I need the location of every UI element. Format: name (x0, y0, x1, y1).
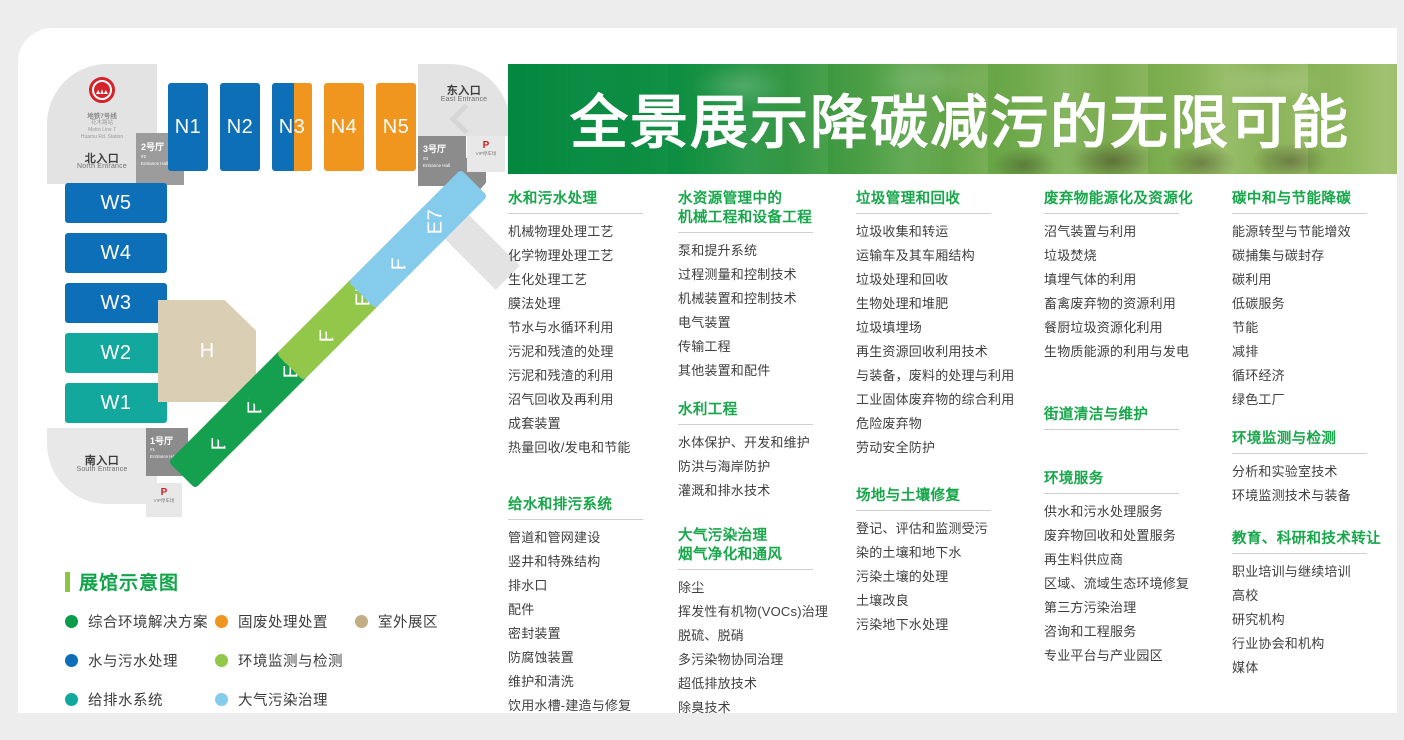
legend-label-4: 环境监测与检测 (238, 650, 343, 671)
category-item: 垃圾填埋场 (856, 316, 1044, 340)
category-item: 土壤改良 (856, 589, 1044, 613)
category-group: 废弃物能源化及资源化沼气装置与利用垃圾焚烧填埋气体的利用畜禽废弃物的资源利用餐厨… (1044, 190, 1232, 364)
hall-n4-label: N4 (331, 116, 358, 139)
category-columns: 水和污水处理机械物理处理工艺化学物理处理工艺生化处理工艺膜法处理节水与水循环利用… (508, 190, 1397, 738)
category-item: 劳动安全防护 (856, 436, 1044, 460)
category-item: 再生资源回收利用技术 (856, 340, 1044, 364)
category-item: 管道和管网建设 (508, 526, 678, 550)
page-root: 地铁7号线 花木路站 Metro Line 7 Huamu Rd. Statio… (0, 0, 1404, 740)
category-item: 节能 (1232, 316, 1397, 340)
entrance-hall-3-en: Entrance Hall (423, 163, 450, 169)
category-item: 高校 (1232, 584, 1397, 608)
category-group-title: 场地与土壤修复 (856, 487, 1044, 510)
legend-title-bar (65, 572, 70, 592)
legend-dot-icon-1 (215, 615, 228, 628)
category-item: 畜禽废弃物的资源利用 (1044, 292, 1232, 316)
category-group: 垃圾管理和回收垃圾收集和转运运输车及其车厢结构垃圾处理和回收生物处理和堆肥垃圾填… (856, 190, 1044, 460)
entrance-hall-3-cn: 3号厅 (423, 142, 446, 155)
category-group: 水资源管理中的机械工程和设备工程泵和提升系统过程测量和控制技术机械装置和控制技术… (678, 190, 856, 383)
metro-logo-icon (89, 77, 115, 103)
legend-label-0: 综合环境解决方案 (88, 611, 208, 632)
banner-title: 全景展示降碳减污的无限可能 (570, 75, 1350, 159)
category-item: 工业固体废弃物的综合利用 (856, 388, 1044, 412)
category-item: 研究机构 (1232, 608, 1397, 632)
legend-item-2: 室外展区 (355, 611, 485, 632)
category-item: 废弃物回收和处置服务 (1044, 524, 1232, 548)
category-group: 水利工程水体保护、开发和维护防洪与海岸防护灌溉和排水技术 (678, 401, 856, 503)
category-item: 媒体 (1232, 656, 1397, 680)
category-item: 传输工程 (678, 335, 856, 359)
category-item: 污泥和残渣的利用 (508, 364, 678, 388)
parking-icon-east: P (467, 140, 505, 151)
category-item: 区域、流域生态环境修复 (1044, 572, 1232, 596)
legend-grid: 综合环境解决方案 固废处理处置 室外展区 水与污水处理 环境监测与检测 (65, 611, 485, 710)
hall-w2[interactable]: W2 (65, 333, 167, 373)
category-group-title: 水和污水处理 (508, 190, 678, 213)
category-item: 挥发性有机物(VOCs)治理 (678, 600, 856, 624)
category-item: 生物处理和堆肥 (856, 292, 1044, 316)
entrance-hall-2-num: #2 (141, 154, 146, 160)
category-item: 维护和清洗 (508, 670, 678, 694)
hall-w3[interactable]: W3 (65, 283, 167, 323)
hall-n5[interactable]: N5 (376, 83, 416, 171)
east-entrance-block: 东入口 East Entrance (418, 64, 510, 136)
category-item: 其他装置和配件 (678, 359, 856, 383)
category-item: 膜法处理 (508, 292, 678, 316)
category-group-divider (1044, 493, 1179, 494)
east-entrance-en: East Entrance (418, 96, 510, 103)
south-entrance-block: 南入口 South Entrance (47, 428, 157, 504)
hero-banner: 全景展示降碳减污的无限可能 (508, 64, 1397, 174)
category-group-divider (1044, 429, 1179, 430)
hall-n1-label: N1 (175, 116, 202, 139)
legend-dot-icon-0 (65, 615, 78, 628)
category-group-divider (678, 232, 813, 233)
hall-w5[interactable]: W5 (65, 183, 167, 223)
category-group-title: 大气污染治理烟气净化和通风 (678, 527, 856, 569)
category-group-title: 水利工程 (678, 401, 856, 424)
legend-dot-icon-5 (65, 693, 78, 706)
category-item: 染的土壤和地下水 (856, 541, 1044, 565)
entrance-hall-2-cn: 2号厅 (141, 140, 164, 153)
category-group: 碳中和与节能降碳能源转型与节能增效碳捕集与碳封存碳利用低碳服务节能减排循环经济绿… (1232, 190, 1397, 412)
category-item: 饮用水槽-建造与修复 (508, 694, 678, 718)
category-item: 能源转型与节能增效 (1232, 220, 1397, 244)
venue-map: 地铁7号线 花木路站 Metro Line 7 Huamu Rd. Statio… (18, 28, 508, 713)
category-item: 循环经济 (1232, 364, 1397, 388)
hall-h-outdoor[interactable]: H (158, 300, 256, 402)
category-item: 减排 (1232, 340, 1397, 364)
hall-w4-label: W4 (101, 242, 132, 265)
category-item: 脱硫、脱硝 (678, 624, 856, 648)
category-item: 专业平台与产业园区 (1044, 644, 1232, 668)
hall-w1[interactable]: W1 (65, 383, 167, 423)
category-item: 防洪与海岸防护 (678, 455, 856, 479)
category-group-title: 教育、科研和技术转让 (1232, 530, 1397, 553)
category-group: 教育、科研和技术转让职业培训与继续培训高校研究机构行业协会和机构媒体 (1232, 530, 1397, 680)
parking-label-south: VIP停车场 (146, 498, 182, 504)
category-item: 生物质能源的利用与发电 (1044, 340, 1232, 364)
category-group-divider (1232, 213, 1367, 214)
category-item: 电气装置 (678, 311, 856, 335)
legend-spacer-2 (355, 689, 485, 710)
hall-n4[interactable]: N4 (324, 83, 364, 171)
category-group-divider (856, 510, 991, 511)
hall-n5-label: N5 (383, 116, 410, 139)
metro-station-cn: 花木路站 (47, 118, 157, 126)
category-item: 化学物理处理工艺 (508, 244, 678, 268)
category-item: 行业协会和机构 (1232, 632, 1397, 656)
hall-w2-label: W2 (101, 342, 132, 365)
category-group: 水和污水处理机械物理处理工艺化学物理处理工艺生化处理工艺膜法处理节水与水循环利用… (508, 190, 678, 460)
hall-w1-label: W1 (101, 392, 132, 415)
category-item: 成套装置 (508, 412, 678, 436)
hall-n1[interactable]: N1 (168, 83, 208, 171)
category-item: 餐厨垃圾资源化利用 (1044, 316, 1232, 340)
category-group-title: 街道清洁与维护 (1044, 406, 1232, 429)
category-column-1: 水资源管理中的机械工程和设备工程泵和提升系统过程测量和控制技术机械装置和控制技术… (678, 190, 856, 738)
legend-item-5: 给排水系统 (65, 689, 215, 710)
east-entrance-arrow-icon (449, 103, 480, 134)
category-group-title: 垃圾管理和回收 (856, 190, 1044, 213)
hall-w4[interactable]: W4 (65, 233, 167, 273)
parking-icon-south: P (146, 487, 182, 498)
category-item: 分析和实验室技术 (1232, 460, 1397, 484)
hall-e7-label: E7 (425, 208, 448, 233)
category-item: 运输车及其车厢结构 (856, 244, 1044, 268)
legend-spacer (355, 650, 485, 671)
legend-label-1: 固废处理处置 (238, 611, 328, 632)
legend-dot-icon-6 (215, 693, 228, 706)
legend-label-6: 大气污染治理 (238, 689, 328, 710)
hall-n2-label: N2 (227, 116, 254, 139)
category-item: 碳捕集与碳封存 (1232, 244, 1397, 268)
category-column-4: 碳中和与节能降碳能源转型与节能增效碳捕集与碳封存碳利用低碳服务节能减排循环经济绿… (1232, 190, 1397, 738)
legend-label-3: 水与污水处理 (88, 650, 178, 671)
category-item: 咨询和工程服务 (1044, 620, 1232, 644)
category-item: 机械物理处理工艺 (508, 220, 678, 244)
hall-w5-label: W5 (101, 192, 132, 215)
category-item: 与装备，废料的处理与利用 (856, 364, 1044, 388)
category-item: 污染土壤的处理 (856, 565, 1044, 589)
hall-n2[interactable]: N2 (220, 83, 260, 171)
entrance-hall-2-en: Entrance Hall (141, 161, 168, 167)
category-item: 密封装置 (508, 622, 678, 646)
category-group-title: 环境服务 (1044, 470, 1232, 493)
category-group-title: 碳中和与节能降碳 (1232, 190, 1397, 213)
category-group-divider (1232, 553, 1367, 554)
category-group-divider (1232, 453, 1367, 454)
category-item: 再生料供应商 (1044, 548, 1232, 572)
category-item: 除尘 (678, 576, 856, 600)
category-item: 灌溉和排水技术 (678, 479, 856, 503)
legend-item-1: 固废处理处置 (215, 611, 355, 632)
legend-title: 展馆示意图 (65, 568, 485, 595)
category-item: 第三方污染治理 (1044, 596, 1232, 620)
entrance-hall-1-num: #1 (150, 447, 155, 453)
category-item: 节水与水循环利用 (508, 316, 678, 340)
legend-title-text: 展馆示意图 (79, 568, 179, 595)
legend-dot-icon-3 (65, 654, 78, 667)
parking-vip-south: P VIP停车场 (146, 483, 182, 517)
category-item: 供水和污水处理服务 (1044, 500, 1232, 524)
legend-item-6: 大气污染治理 (215, 689, 355, 710)
category-group-divider (508, 213, 643, 214)
category-item: 防腐蚀装置 (508, 646, 678, 670)
legend-label-2: 室外展区 (378, 611, 438, 632)
category-item: 填埋气体的利用 (1044, 268, 1232, 292)
category-item: 过程测量和控制技术 (678, 263, 856, 287)
category-item: 污泥和残渣的处理 (508, 340, 678, 364)
category-item: 机械装置和控制技术 (678, 287, 856, 311)
legend-dot-icon-2 (355, 615, 368, 628)
category-group: 给水和排污系统管道和管网建设竖井和特殊结构排水口配件密封装置防腐蚀装置维护和清洗… (508, 496, 678, 718)
category-group-divider (856, 213, 991, 214)
category-group: 街道清洁与维护 (1044, 406, 1232, 430)
category-group: 大气污染治理烟气净化和通风除尘挥发性有机物(VOCs)治理脱硫、脱硝多污染物协同… (678, 527, 856, 720)
category-item: 垃圾焚烧 (1044, 244, 1232, 268)
category-item: 竖井和特殊结构 (508, 550, 678, 574)
category-item: 泵和提升系统 (678, 239, 856, 263)
category-group-title: 水资源管理中的机械工程和设备工程 (678, 190, 856, 232)
category-item: 生化处理工艺 (508, 268, 678, 292)
category-item: 低碳服务 (1232, 292, 1397, 316)
category-item: 职业培训与继续培训 (1232, 560, 1397, 584)
category-item: 垃圾收集和转运 (856, 220, 1044, 244)
map-legend: 展馆示意图 综合环境解决方案 固废处理处置 室外展区 水与污水处理 (65, 568, 485, 710)
category-group-divider (508, 519, 643, 520)
category-item: 危险废弃物 (856, 412, 1044, 436)
category-group-divider (1044, 213, 1179, 214)
hall-h-label: H (200, 340, 214, 363)
category-item: 热量回收/发电和节能 (508, 436, 678, 460)
category-group: 场地与土壤修复登记、评估和监测受污染的土壤和地下水污染土壤的处理土壤改良污染地下… (856, 487, 1044, 637)
parking-vip-east: P VIP停车场 (467, 136, 505, 172)
category-item: 配件 (508, 598, 678, 622)
category-column-3: 废弃物能源化及资源化沼气装置与利用垃圾焚烧填埋气体的利用畜禽废弃物的资源利用餐厨… (1044, 190, 1232, 738)
legend-item-4: 环境监测与检测 (215, 650, 355, 671)
hall-w3-label: W3 (101, 292, 132, 315)
category-item: 绿色工厂 (1232, 388, 1397, 412)
entrance-hall-1-cn: 1号厅 (150, 434, 173, 447)
category-item: 垃圾处理和回收 (856, 268, 1044, 292)
category-item: 碳利用 (1232, 268, 1397, 292)
category-item: 沼气回收及再利用 (508, 388, 678, 412)
category-group-divider (678, 569, 813, 570)
category-column-2: 垃圾管理和回收垃圾收集和转运运输车及其车厢结构垃圾处理和回收生物处理和堆肥垃圾填… (856, 190, 1044, 738)
hall-n3-label: N3 (279, 116, 306, 139)
legend-item-0: 综合环境解决方案 (65, 611, 215, 632)
entrance-hall-3-num: #3 (423, 156, 428, 162)
category-column-0: 水和污水处理机械物理处理工艺化学物理处理工艺生化处理工艺膜法处理节水与水循环利用… (508, 190, 678, 738)
category-item: 排水口 (508, 574, 678, 598)
category-item: 环境监测技术与装备 (1232, 484, 1397, 508)
legend-item-3: 水与污水处理 (65, 650, 215, 671)
category-group: 环境监测与检测分析和实验室技术环境监测技术与装备 (1232, 430, 1397, 508)
category-group-title: 废弃物能源化及资源化 (1044, 190, 1232, 213)
category-group-divider (678, 424, 813, 425)
category-group-title: 环境监测与检测 (1232, 430, 1397, 453)
category-item: 沼气装置与利用 (1044, 220, 1232, 244)
category-item: 多污染物协同治理 (678, 648, 856, 672)
category-item: 除臭技术 (678, 696, 856, 720)
category-item: 水体保护、开发和维护 (678, 431, 856, 455)
category-group: 环境服务供水和污水处理服务废弃物回收和处置服务再生料供应商区域、流域生态环境修复… (1044, 470, 1232, 668)
south-entrance-en: South Entrance (47, 466, 157, 473)
hall-n3[interactable]: N3 (272, 83, 312, 171)
parking-label-east: VIP停车场 (467, 151, 505, 157)
category-item: 登记、评估和监测受污 (856, 517, 1044, 541)
category-group-title: 给水和排污系统 (508, 496, 678, 519)
legend-dot-icon-4 (215, 654, 228, 667)
category-item: 超低排放技术 (678, 672, 856, 696)
category-item: 污染地下水处理 (856, 613, 1044, 637)
legend-label-5: 给排水系统 (88, 689, 163, 710)
